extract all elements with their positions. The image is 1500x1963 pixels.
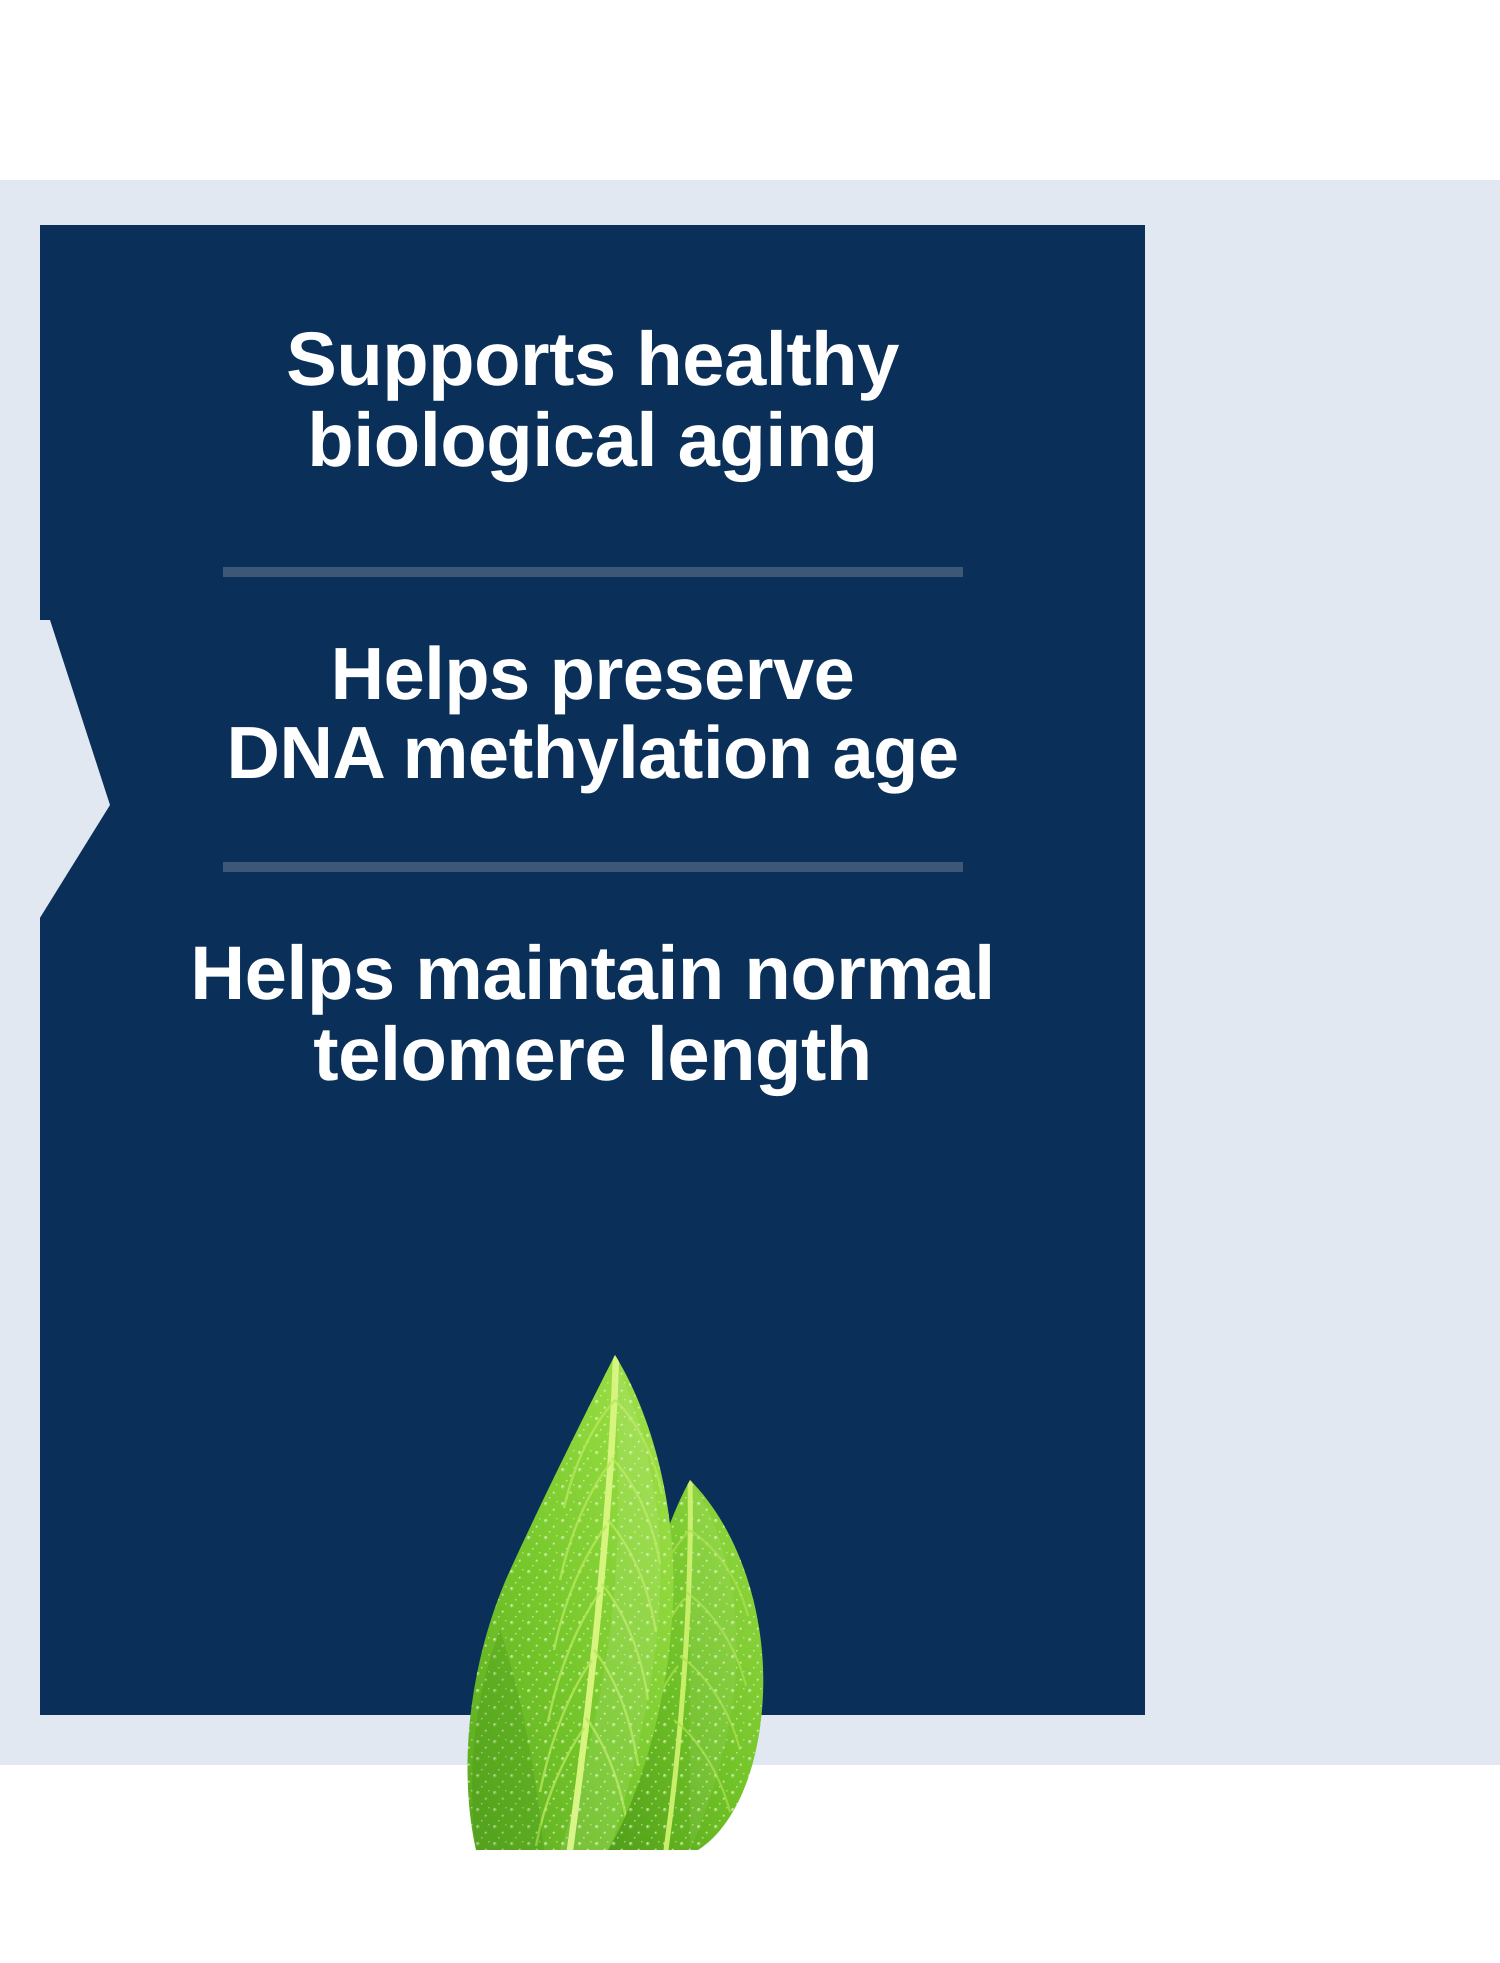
divider-1 [223, 567, 963, 577]
claim-3-line-1: Helps maintain normal [70, 934, 1115, 1015]
claim-1-line-1: Supports healthy [70, 320, 1115, 401]
benefits-card-content: Supports healthy biological aging Helps … [40, 225, 1145, 1715]
claim-1-line-2: biological aging [70, 401, 1115, 482]
divider-2 [223, 862, 963, 872]
claim-2-line-1: Helps preserve [70, 635, 1115, 713]
claim-2-line-2: DNA methylation age [70, 714, 1115, 792]
claim-2: Helps preserve DNA methylation age [70, 635, 1115, 792]
claim-3: Helps maintain normal telomere length [70, 934, 1115, 1095]
claim-3-line-2: telomere length [70, 1015, 1115, 1096]
benefits-card: Supports healthy biological aging Helps … [40, 225, 1145, 1715]
claim-1: Supports healthy biological aging [70, 320, 1115, 481]
